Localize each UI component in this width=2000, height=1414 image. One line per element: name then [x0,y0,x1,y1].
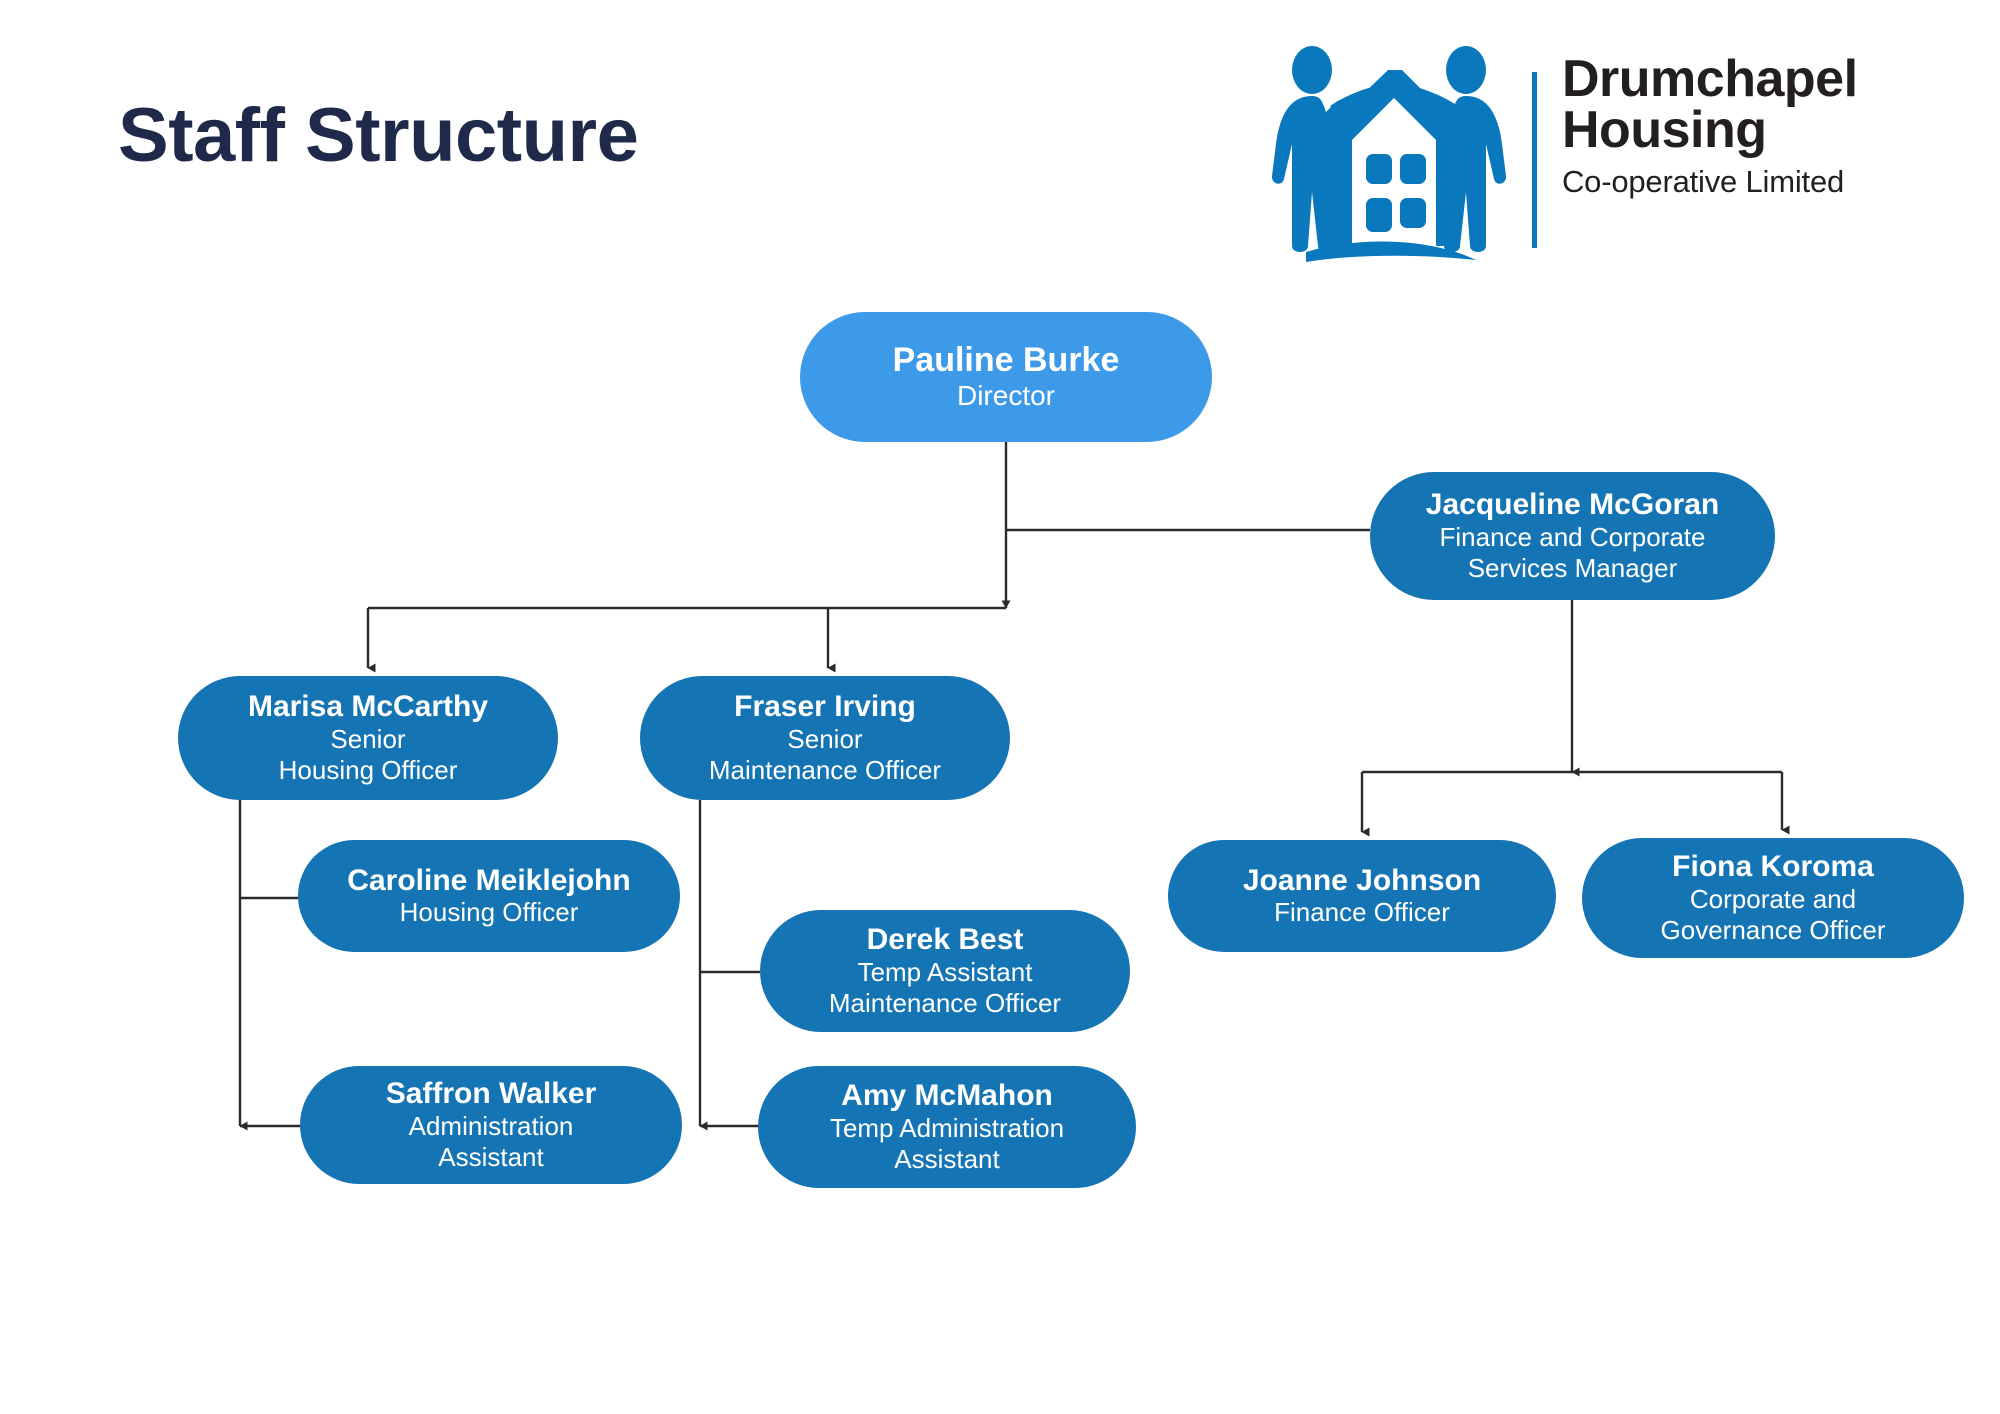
org-node-role: Senior Housing Officer [279,724,458,786]
org-node-role: Administration Assistant [409,1111,574,1173]
org-node-name: Pauline Burke [893,341,1120,379]
org-node-fiona-koroma[interactable]: Fiona Koroma Corporate and Governance Of… [1582,838,1964,958]
org-node-role: Corporate and Governance Officer [1661,884,1886,946]
org-node-fraser-irving[interactable]: Fraser Irving Senior Maintenance Officer [640,676,1010,800]
org-node-name: Amy McMahon [841,1079,1053,1113]
org-node-joanne-johnson[interactable]: Joanne Johnson Finance Officer [1168,840,1556,952]
org-node-caroline-meiklejohn[interactable]: Caroline Meiklejohn Housing Officer [298,840,680,952]
org-node-role: Finance and Corporate Services Manager [1440,522,1706,584]
org-node-name: Caroline Meiklejohn [347,864,630,898]
org-node-name: Marisa McCarthy [248,690,488,724]
org-node-role: Temp Assistant Maintenance Officer [829,957,1061,1019]
org-node-pauline-burke[interactable]: Pauline Burke Director [800,312,1212,442]
org-node-amy-mcmahon[interactable]: Amy McMahon Temp Administration Assistan… [758,1066,1136,1188]
org-node-derek-best[interactable]: Derek Best Temp Assistant Maintenance Of… [760,910,1130,1032]
org-node-name: Saffron Walker [386,1077,597,1111]
org-chart-canvas: Staff Structure [0,0,2000,1414]
org-node-role: Finance Officer [1274,897,1450,928]
org-node-name: Fraser Irving [734,690,916,724]
org-node-saffron-walker[interactable]: Saffron Walker Administration Assistant [300,1066,682,1184]
org-node-name: Jacqueline McGoran [1426,488,1719,522]
org-node-role: Senior Maintenance Officer [709,724,941,786]
org-node-name: Fiona Koroma [1672,850,1874,884]
org-node-role: Housing Officer [400,897,579,928]
org-node-jacqueline-mcgoran[interactable]: Jacqueline McGoran Finance and Corporate… [1370,472,1775,600]
org-node-name: Derek Best [867,923,1024,957]
org-node-role: Temp Administration Assistant [830,1113,1064,1175]
org-node-role: Director [957,379,1055,413]
org-node-marisa-mccarthy[interactable]: Marisa McCarthy Senior Housing Officer [178,676,558,800]
org-node-name: Joanne Johnson [1243,864,1481,898]
